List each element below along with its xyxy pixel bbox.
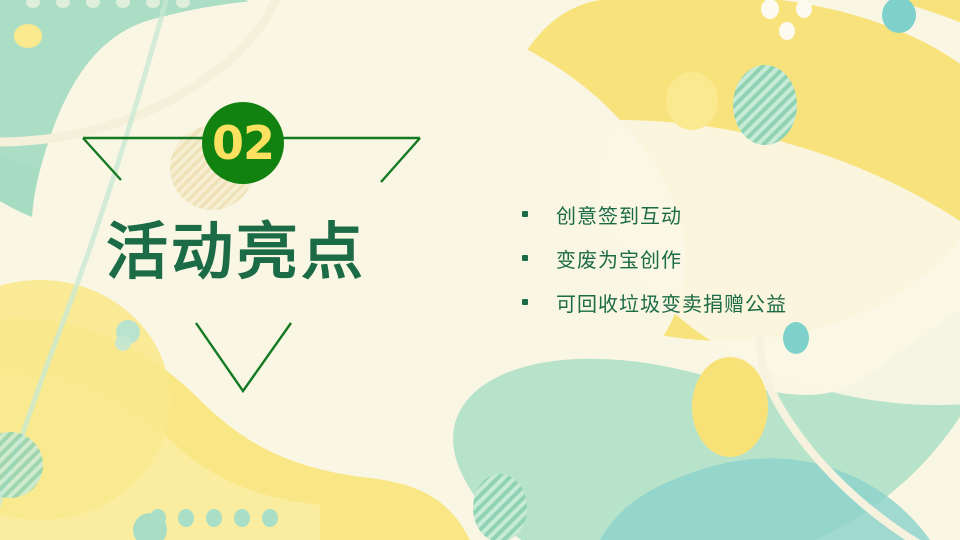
bullet-text-1: 创意签到互动: [556, 200, 682, 229]
bullet-text-2: 变废为宝创作: [556, 244, 682, 273]
bullet-item-1: 创意签到互动: [522, 192, 787, 236]
slide-content: 02 活动亮点 创意签到互动 变废为宝创作 可回收垃圾变卖捐赠公益: [0, 0, 960, 540]
bullet-dot-icon: [522, 255, 528, 261]
slide-title: 活动亮点: [106, 222, 366, 284]
section-number-text: 02: [212, 120, 274, 166]
bullet-item-2: 变废为宝创作: [522, 236, 787, 280]
presentation-slide: 02 活动亮点 创意签到互动 变废为宝创作 可回收垃圾变卖捐赠公益: [0, 0, 960, 540]
highlight-bullet-list: 创意签到互动 变废为宝创作 可回收垃圾变卖捐赠公益: [522, 192, 787, 324]
section-number-badge: 02: [202, 102, 284, 184]
bullet-text-3: 可回收垃圾变卖捐赠公益: [556, 288, 787, 317]
bullet-dot-icon: [522, 211, 528, 217]
bullet-dot-icon: [522, 299, 528, 305]
bullet-item-3: 可回收垃圾变卖捐赠公益: [522, 280, 787, 324]
